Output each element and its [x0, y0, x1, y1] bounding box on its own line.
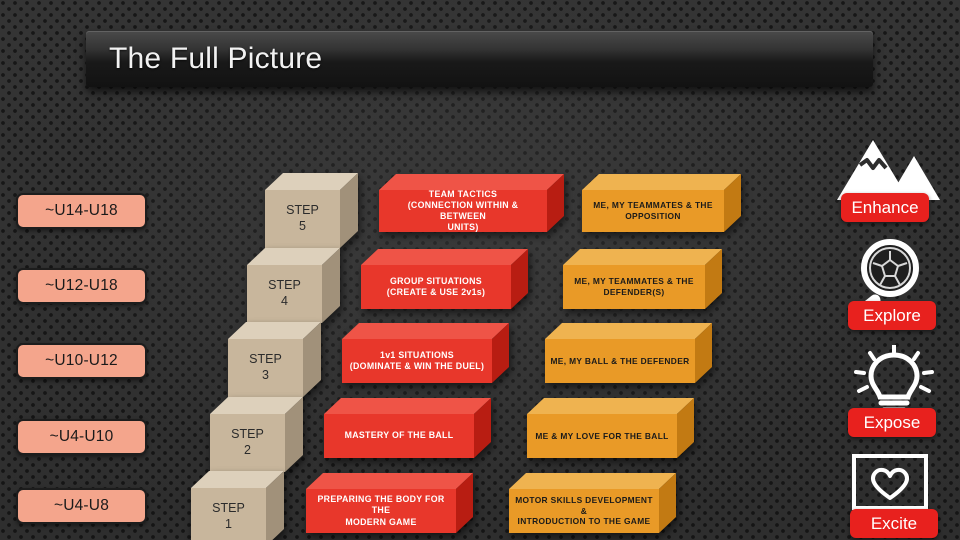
- topic-line-1: TEAM TACTICS: [429, 189, 497, 200]
- age-group-pill-u10-u12: ~U10-U12: [16, 343, 147, 379]
- topic-block-preparing-the-body: PREPARING THE BODY FOR THE MODERN GAME: [306, 473, 456, 533]
- age-group-pill-u4-u10: ~U4-U10: [16, 419, 147, 455]
- step-block-4: STEP 4: [247, 248, 322, 308]
- side-item-label: Enhance: [851, 198, 918, 218]
- topic-block-1v1-situations: 1v1 SITUATIONS (DOMINATE & WIN THE DUEL): [342, 323, 492, 383]
- side-item-enhance[interactable]: Enhance: [836, 138, 946, 228]
- topic-block-group-situations: GROUP SITUATIONS (CREATE & USE 2v1s): [361, 249, 511, 309]
- step-label-number: 3: [262, 368, 269, 384]
- topic-line-1: GROUP SITUATIONS: [390, 276, 482, 287]
- side-item-excite[interactable]: Excite: [850, 452, 960, 540]
- age-group-label: ~U4-U10: [50, 428, 114, 446]
- perspective-block-motor-skills: MOTOR SKILLS DEVELOPMENT & INTRODUCTION …: [509, 473, 659, 533]
- perspective-block-teammates-defenders: ME, MY TEAMMATES & THE DEFENDER(S): [563, 249, 705, 309]
- side-item-excite-pill[interactable]: Excite: [850, 509, 938, 538]
- age-group-label: ~U12-U18: [45, 277, 118, 295]
- perspective-block-love-for-the-ball: ME & MY LOVE FOR THE BALL: [527, 398, 677, 458]
- age-group-pill-u14-u18: ~U14-U18: [16, 193, 147, 229]
- side-item-explore[interactable]: Explore: [848, 238, 958, 333]
- side-item-label: Expose: [864, 413, 921, 433]
- step-label-number: 4: [281, 294, 288, 310]
- perspective-line-1: ME, MY TEAMMATES & THE: [593, 200, 713, 211]
- age-group-label: ~U14-U18: [45, 202, 118, 220]
- perspective-block-ball-defender: ME, MY BALL & THE DEFENDER: [545, 323, 695, 383]
- age-group-label: ~U10-U12: [45, 352, 118, 370]
- perspective-line-2: OPPOSITION: [625, 211, 681, 222]
- perspective-line-1: MOTOR SKILLS DEVELOPMENT &: [513, 495, 655, 517]
- slide-canvas: The Full Picture ~U14-U18 ~U12-U18 ~U10-…: [0, 0, 960, 540]
- side-item-expose[interactable]: Expose: [848, 345, 958, 440]
- topic-line-2: (CREATE & USE 2v1s): [387, 287, 485, 298]
- page-title: The Full Picture: [86, 42, 322, 76]
- step-label-number: 1: [225, 517, 232, 533]
- perspective-line-2: INTRODUCTION TO THE GAME: [518, 516, 651, 527]
- step-block-3: STEP 3: [228, 322, 303, 382]
- step-block-2: STEP 2: [210, 397, 285, 457]
- step-block-5: STEP 5: [265, 173, 340, 233]
- side-item-label: Explore: [863, 306, 921, 326]
- topic-line-1: PREPARING THE BODY FOR THE: [312, 494, 450, 517]
- side-item-explore-pill[interactable]: Explore: [848, 301, 936, 330]
- topic-line-3: UNITS): [447, 222, 478, 233]
- topic-line-2: MODERN GAME: [345, 517, 416, 528]
- side-item-expose-pill[interactable]: Expose: [848, 408, 936, 437]
- step-label-word: STEP: [268, 278, 301, 294]
- topic-line-2: (CONNECTION WITHIN & BETWEEN: [385, 200, 541, 222]
- perspective-line-1: ME, MY TEAMMATES & THE: [574, 276, 694, 287]
- side-item-label: Excite: [871, 514, 917, 534]
- age-group-label: ~U4-U8: [54, 497, 109, 515]
- topic-block-mastery-of-the-ball: MASTERY OF THE BALL: [324, 398, 474, 458]
- perspective-line-1: ME, MY BALL & THE DEFENDER: [550, 356, 689, 367]
- step-label-word: STEP: [286, 203, 319, 219]
- step-label-number: 5: [299, 219, 306, 235]
- side-item-enhance-pill[interactable]: Enhance: [841, 193, 929, 222]
- age-group-pill-u12-u18: ~U12-U18: [16, 268, 147, 304]
- perspective-block-teammates-opposition: ME, MY TEAMMATES & THE OPPOSITION: [582, 174, 724, 232]
- topic-block-team-tactics: TEAM TACTICS (CONNECTION WITHIN & BETWEE…: [379, 174, 547, 232]
- step-label-word: STEP: [249, 352, 282, 368]
- perspective-line-2: DEFENDER(S): [603, 287, 664, 298]
- age-group-pill-u4-u8: ~U4-U8: [16, 488, 147, 524]
- topic-line-1: MASTERY OF THE BALL: [345, 430, 454, 441]
- step-label-number: 2: [244, 443, 251, 459]
- perspective-line-1: ME & MY LOVE FOR THE BALL: [535, 431, 668, 442]
- topic-line-2: (DOMINATE & WIN THE DUEL): [350, 361, 484, 372]
- slide-title-bar: The Full Picture: [86, 31, 873, 87]
- topic-line-1: 1v1 SITUATIONS: [380, 350, 454, 361]
- step-block-1: STEP 1: [191, 471, 266, 531]
- step-label-word: STEP: [212, 501, 245, 517]
- step-label-word: STEP: [231, 427, 264, 443]
